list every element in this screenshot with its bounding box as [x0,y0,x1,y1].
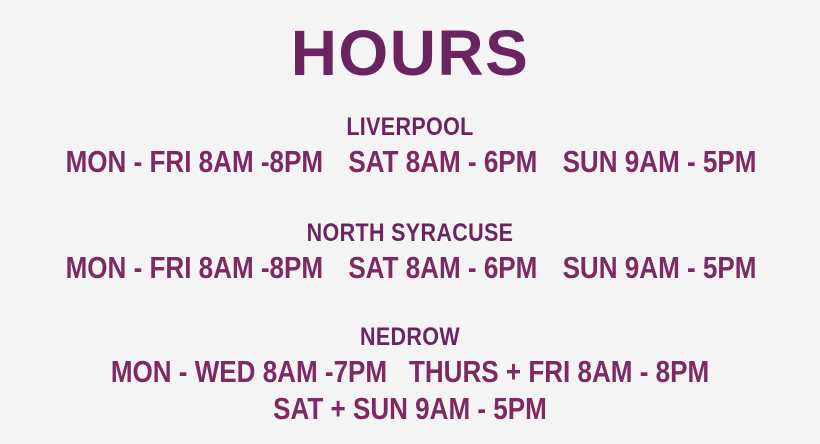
location-name-north-syracuse: NORTH SYRACUSE [57,218,762,249]
hours-entry-weekend: SAT + SUN 9AM - 5PM [273,391,547,426]
hours-row-nedrow-2: SAT + SUN 9AM - 5PM [66,390,755,427]
hours-section-north-syracuse: NORTH SYRACUSE MON - FRI 8AM -8PMSAT 8AM… [0,218,820,286]
hours-entry-weekday: MON - FRI 8AM -8PM [66,144,324,179]
hours-section-nedrow: NEDROW MON - WED 8AM -7PMTHURS + FRI 8AM… [0,322,820,427]
hours-entry-sunday: SUN 9AM - 5PM [563,250,757,285]
hours-entry-saturday: SAT 8AM - 6PM [348,250,537,285]
hours-entry-weekday: MON - FRI 8AM -8PM [66,250,324,285]
hours-row-liverpool-1: MON - FRI 8AM -8PMSAT 8AM - 6PMSUN 9AM -… [66,143,755,180]
hours-entry-saturday: SAT 8AM - 6PM [348,144,537,179]
hours-row-north-syracuse-1: MON - FRI 8AM -8PMSAT 8AM - 6PMSUN 9AM -… [66,249,755,286]
hours-entry-sunday: SUN 9AM - 5PM [563,144,757,179]
location-name-liverpool: LIVERPOOL [57,112,762,143]
hours-entry-thurs-fri: THURS + FRI 8AM - 8PM [409,354,709,389]
hours-entry-mon-wed: MON - WED 8AM -7PM [111,354,387,389]
hours-section-liverpool: LIVERPOOL MON - FRI 8AM -8PMSAT 8AM - 6P… [0,112,820,180]
page-title: HOURS [0,17,820,89]
location-name-nedrow: NEDROW [57,322,762,353]
hours-poster: HOURS LIVERPOOL MON - FRI 8AM -8PMSAT 8A… [0,0,820,444]
hours-sections: LIVERPOOL MON - FRI 8AM -8PMSAT 8AM - 6P… [0,112,820,427]
hours-row-nedrow-1: MON - WED 8AM -7PMTHURS + FRI 8AM - 8PM [66,353,755,390]
